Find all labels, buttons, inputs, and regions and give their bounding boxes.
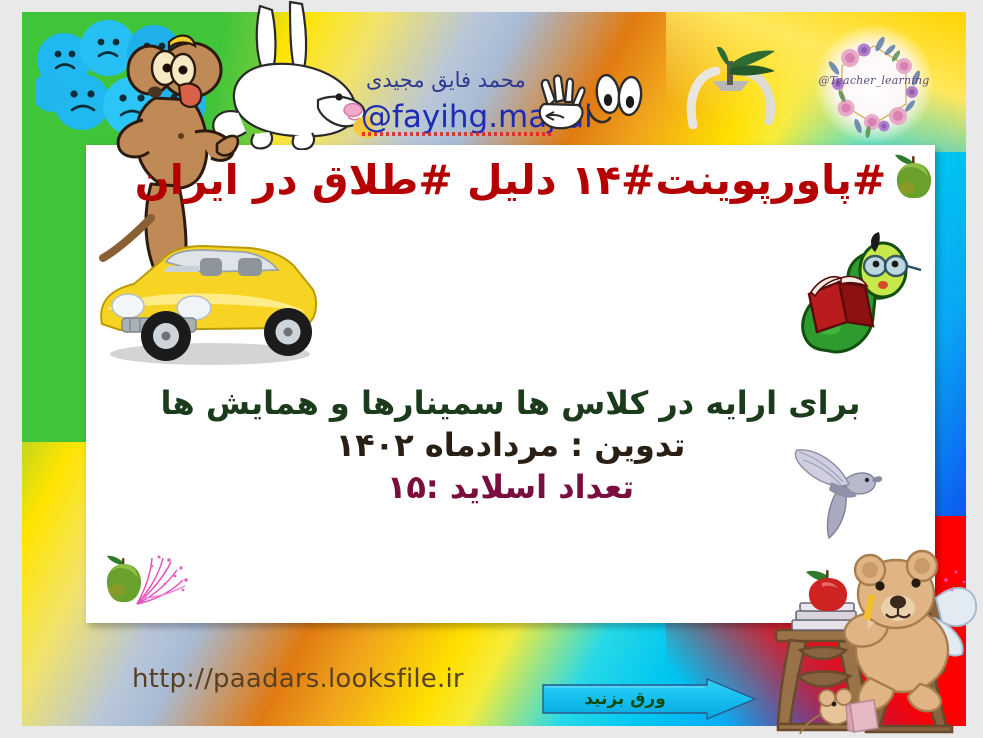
bookworm-icon — [795, 222, 925, 357]
site-url-text[interactable]: http://paadars.looksfile.ir — [132, 664, 464, 694]
cartoon-eyes-icon — [586, 72, 648, 128]
yellow-car-icon — [92, 232, 322, 367]
slide-canvas: @Teacher_learning محمد فایق مجیدی @fayih… — [0, 0, 983, 738]
slide-title: #پاورپوینت#۱۴ دلیل #طلاق در ایران — [86, 157, 935, 204]
slide-body: برای ارایه در کلاس ها سمینارها و همایش ه… — [86, 382, 935, 509]
author-name: محمد فایق مجیدی — [366, 68, 526, 92]
body-line-1: برای ارایه در کلاس ها سمینارها و همایش ه… — [86, 382, 935, 424]
plant-ornament-icon — [683, 47, 779, 129]
next-slide-arrow-button[interactable]: ورق بزنید — [541, 678, 757, 720]
teddy-bear-desk-icon — [770, 538, 983, 734]
apple-sparkle-icon — [97, 554, 192, 616]
teacher-learning-logo: @Teacher_learning — [812, 22, 936, 146]
body-line-3: تعداد اسلاید :۱۵ — [86, 466, 935, 508]
handle-underline-decoration — [362, 132, 552, 136]
waving-hand-icon — [528, 72, 590, 134]
logo-text: @Teacher_learning — [812, 74, 936, 87]
body-line-2: تدوین : مردادماه ۱۴۰۲ — [86, 424, 935, 466]
